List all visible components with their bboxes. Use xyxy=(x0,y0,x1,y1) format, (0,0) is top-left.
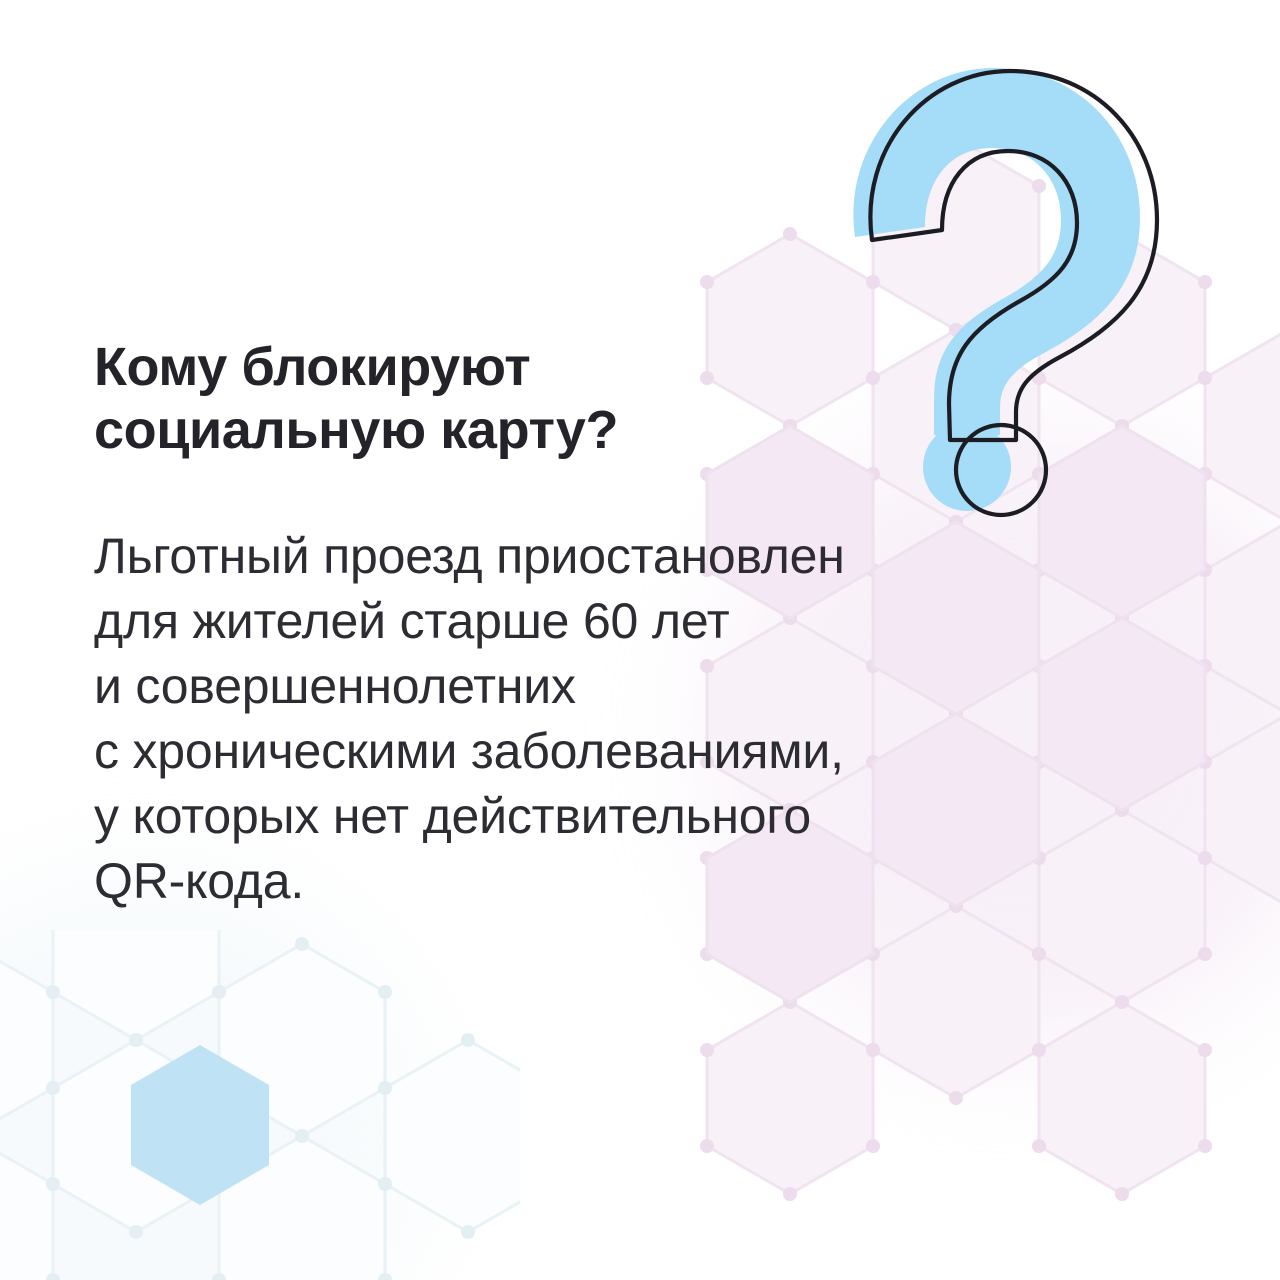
text-content: Кому блокируют социальную карту? Льготны… xyxy=(94,336,1204,914)
page-title: Кому блокируют социальную карту? xyxy=(94,336,1204,462)
body-paragraph: Льготный проезд приостановлен для жителе… xyxy=(94,462,1204,914)
background-wash-left xyxy=(0,880,420,1280)
poster-canvas: Кому блокируют социальную карту? Льготны… xyxy=(0,0,1280,1280)
